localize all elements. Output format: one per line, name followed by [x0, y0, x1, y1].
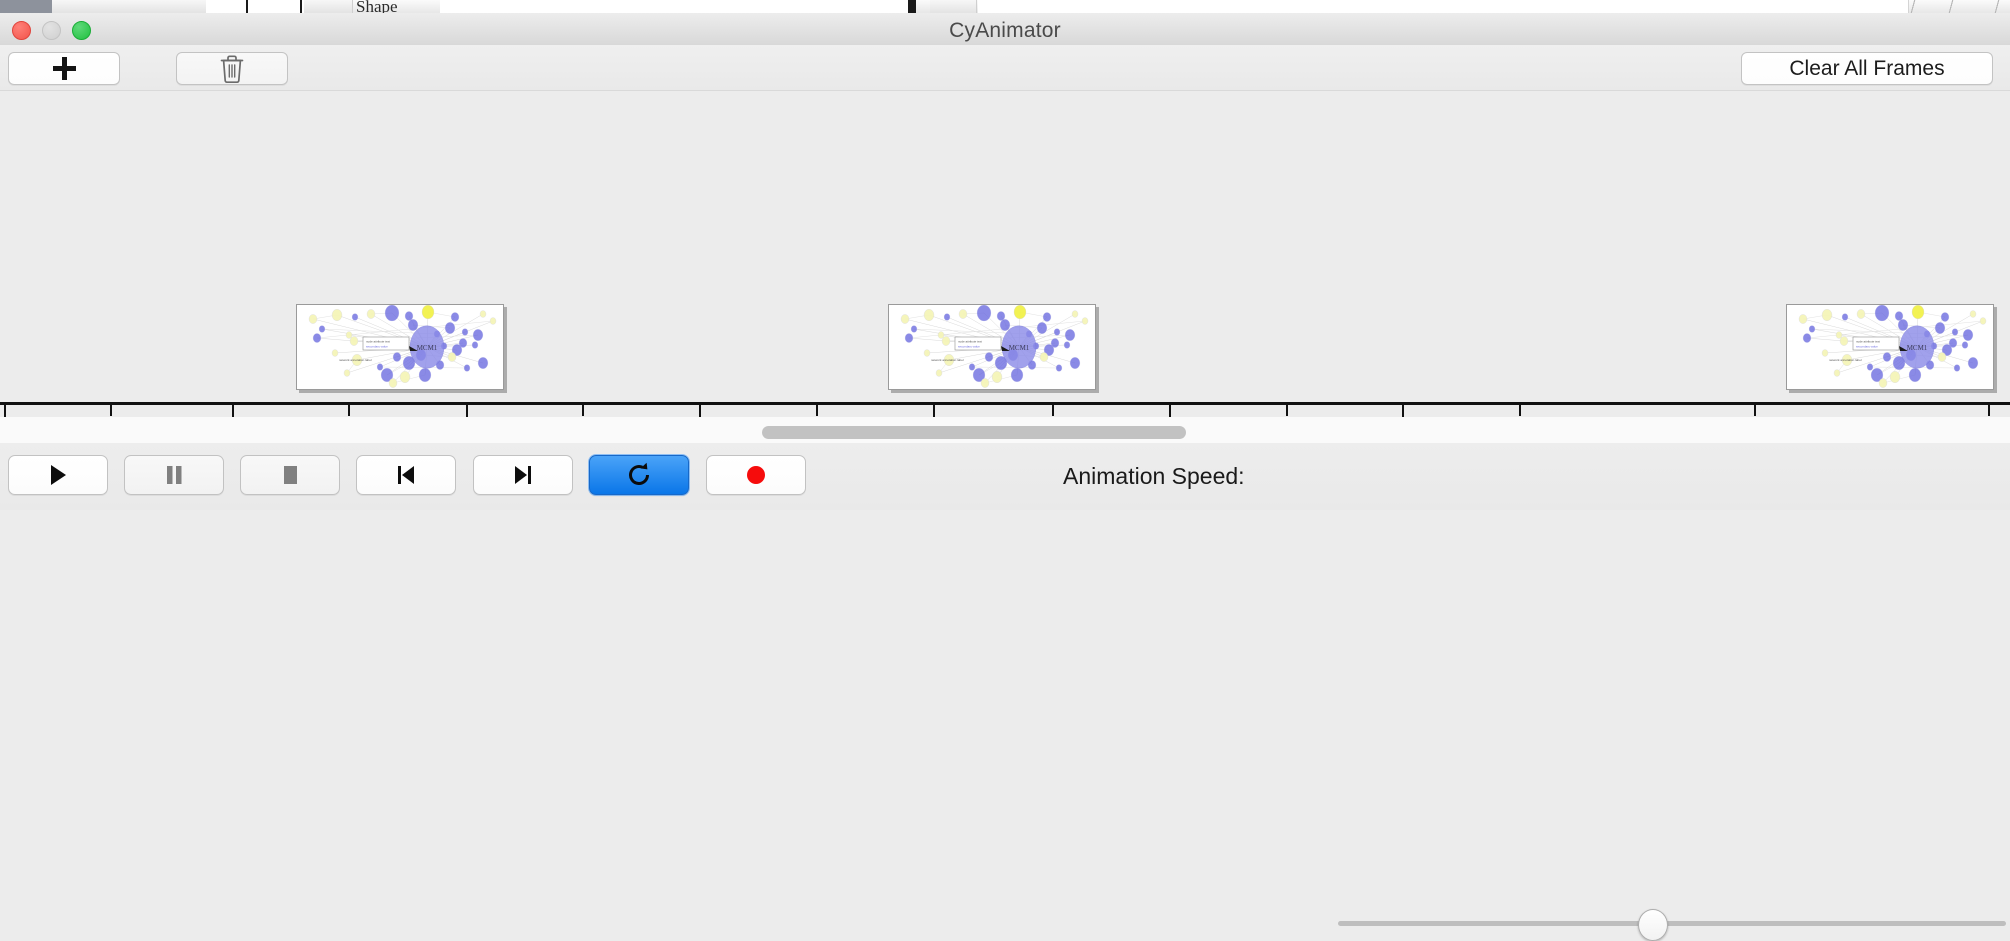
- skip-end-button[interactable]: [473, 455, 573, 495]
- loop-button[interactable]: [589, 455, 689, 495]
- timeline-panel[interactable]: MCM1node attribute textsecondary valuene…: [0, 90, 2010, 418]
- stop-icon: [277, 462, 303, 488]
- timeline-minor-tick: [110, 405, 112, 416]
- skip-end-icon: [510, 462, 536, 488]
- bg-slash: [1992, 0, 2002, 13]
- network-graph: MCM1node attribute textsecondary valuene…: [1787, 305, 1993, 389]
- timeline-minor-tick: [348, 405, 350, 416]
- clear-all-frames-button[interactable]: Clear All Frames: [1741, 52, 1993, 85]
- scrollbar-track[interactable]: [0, 417, 2010, 444]
- network-graph: MCM1node attribute textsecondary valuene…: [297, 305, 503, 389]
- scrollbar-thumb[interactable]: [762, 426, 1186, 439]
- delete-frame-button[interactable]: [176, 52, 288, 85]
- animation-speed-slider-track[interactable]: [1338, 921, 2006, 926]
- bg-slash: [1946, 0, 1956, 13]
- timeline-minor-tick: [1286, 405, 1288, 416]
- bg-mark: [300, 0, 302, 13]
- timeline-frame-thumbnail[interactable]: MCM1node attribute textsecondary valuene…: [1786, 304, 1994, 390]
- loop-icon: [625, 461, 653, 489]
- bg-segment: [304, 0, 353, 13]
- playback-controls: Animation Speed:: [0, 443, 2010, 510]
- clear-all-frames-label: Clear All Frames: [1789, 57, 1944, 81]
- svg-text:network annotation label: network annotation label: [339, 358, 372, 362]
- cyanimator-window: Shape CyAnimator Clear All Frames: [0, 0, 2010, 510]
- timeline-minor-tick: [1754, 405, 1756, 416]
- timeline-frame-thumbnail[interactable]: MCM1node attribute textsecondary valuene…: [296, 304, 504, 390]
- pause-icon: [161, 462, 187, 488]
- add-frame-button[interactable]: [8, 52, 120, 85]
- bg-field: [440, 0, 911, 13]
- svg-text:node attribute text: node attribute text: [958, 340, 982, 344]
- bg-window-label: Shape: [356, 0, 398, 13]
- skip-start-button[interactable]: [356, 455, 456, 495]
- bg-field: [978, 0, 1909, 13]
- svg-text:MCM1: MCM1: [417, 344, 438, 352]
- svg-text:network annotation label: network annotation label: [931, 358, 964, 362]
- bg-segment: [172, 0, 207, 13]
- timeline-frame-thumbnail[interactable]: MCM1node attribute textsecondary valuene…: [888, 304, 1096, 390]
- svg-text:node attribute text: node attribute text: [1856, 340, 1880, 344]
- timeline-minor-tick: [582, 405, 584, 416]
- svg-text:secondary value: secondary value: [366, 345, 388, 349]
- window-title: CyAnimator: [0, 19, 2010, 43]
- bg-slash: [1908, 0, 1918, 13]
- svg-text:secondary value: secondary value: [1856, 345, 1878, 349]
- pause-button[interactable]: [124, 455, 224, 495]
- timeline-minor-tick: [1052, 405, 1054, 416]
- title-bar: CyAnimator: [0, 13, 2010, 46]
- timeline-minor-tick: [1519, 405, 1521, 416]
- timeline-minor-tick: [816, 405, 818, 416]
- svg-text:network annotation label: network annotation label: [1829, 358, 1862, 362]
- record-icon: [743, 462, 769, 488]
- background-window-strip: Shape: [0, 0, 2010, 13]
- bg-segment: [52, 0, 173, 13]
- svg-text:node attribute text: node attribute text: [366, 340, 390, 344]
- animation-speed-slider-thumb[interactable]: [1638, 909, 1668, 941]
- svg-text:MCM1: MCM1: [1009, 344, 1030, 352]
- bg-mark: [908, 0, 916, 13]
- trash-icon: [219, 54, 245, 84]
- bg-segment: [930, 0, 977, 13]
- svg-text:MCM1: MCM1: [1907, 344, 1928, 352]
- bg-field: [206, 0, 277, 13]
- timeline-minor-tick: [1988, 405, 1990, 416]
- play-button[interactable]: [8, 455, 108, 495]
- bg-mark: [246, 0, 248, 13]
- bg-dark-segment: [0, 0, 52, 13]
- record-button[interactable]: [706, 455, 806, 495]
- animation-speed-label: Animation Speed:: [1063, 463, 1245, 490]
- play-icon: [45, 462, 71, 488]
- plus-icon: [53, 57, 76, 80]
- skip-start-icon: [393, 462, 419, 488]
- panel-divider: [0, 90, 2010, 91]
- timeline-axis-line: [0, 402, 2010, 405]
- toolbar: Clear All Frames: [0, 45, 2010, 91]
- svg-text:secondary value: secondary value: [958, 345, 980, 349]
- network-graph: MCM1node attribute textsecondary valuene…: [889, 305, 1095, 389]
- stop-button[interactable]: [240, 455, 340, 495]
